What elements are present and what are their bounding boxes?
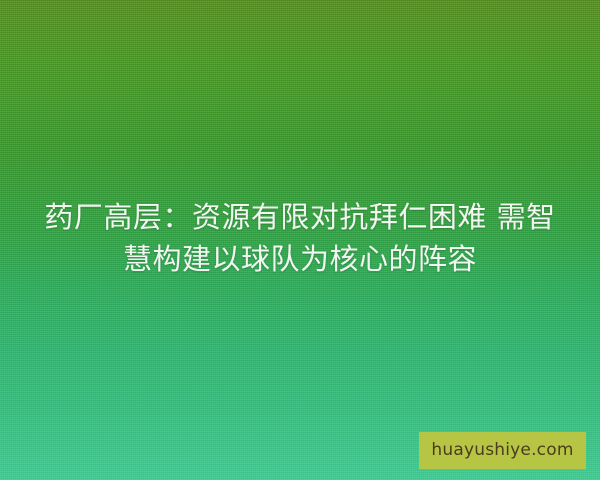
image-canvas: 药厂高层：资源有限对抗拜仁困难 需智 慧构建以球队为核心的阵容 huayushi… xyxy=(0,0,600,480)
watermark-label: huayushiye.com xyxy=(431,442,573,459)
watermark-badge: huayushiye.com xyxy=(419,432,586,469)
headline-text: 药厂高层：资源有限对抗拜仁困难 需智 慧构建以球队为核心的阵容 xyxy=(34,196,566,280)
